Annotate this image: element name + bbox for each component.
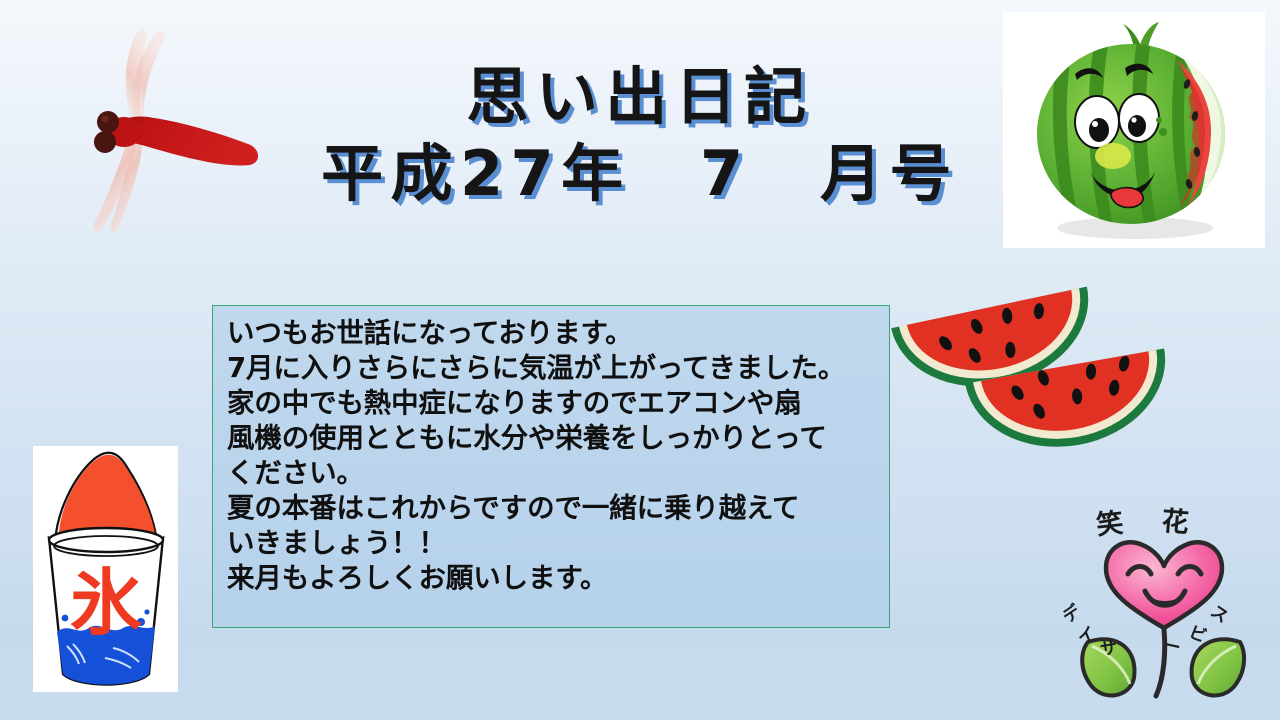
smiling-watermelon-image bbox=[1003, 12, 1265, 248]
message-line: ください。 bbox=[227, 456, 881, 491]
message-line: 夏の本番はこれからですので一緒に乗り越えて bbox=[227, 491, 881, 526]
watermelon-slices-icon bbox=[885, 255, 1185, 470]
red-dragonfly-icon bbox=[62, 22, 267, 244]
message-line: いつもお世話になっております。 bbox=[227, 316, 881, 351]
message-line: 7月に入りさらにさらに気温が上がってきました。 bbox=[227, 351, 881, 386]
company-logo: 笑 花 デ イ サ ー ビ ス bbox=[1052, 492, 1277, 718]
greeting-message-box: いつもお世話になっております。 7月に入りさらにさらに気温が上がってきました。 … bbox=[212, 305, 890, 628]
message-line: 来月もよろしくお願いします。 bbox=[227, 561, 881, 596]
ice-kanji-label: 氷 bbox=[70, 561, 142, 645]
logo-kanji-ka: 花 bbox=[1160, 499, 1190, 540]
logo-kanji-sho: 笑 bbox=[1094, 501, 1125, 543]
message-line: いきましょう！！ bbox=[227, 526, 881, 561]
message-line: 家の中でも熱中症になりますのでエアコンや扇 bbox=[227, 386, 881, 421]
newsletter-slide: 思い出日記 平成27年 7 月号 bbox=[0, 0, 1280, 720]
message-line: 風機の使用とともに水分や栄養をしっかりとって bbox=[227, 421, 881, 456]
shaved-ice-image: 氷 bbox=[33, 446, 178, 692]
